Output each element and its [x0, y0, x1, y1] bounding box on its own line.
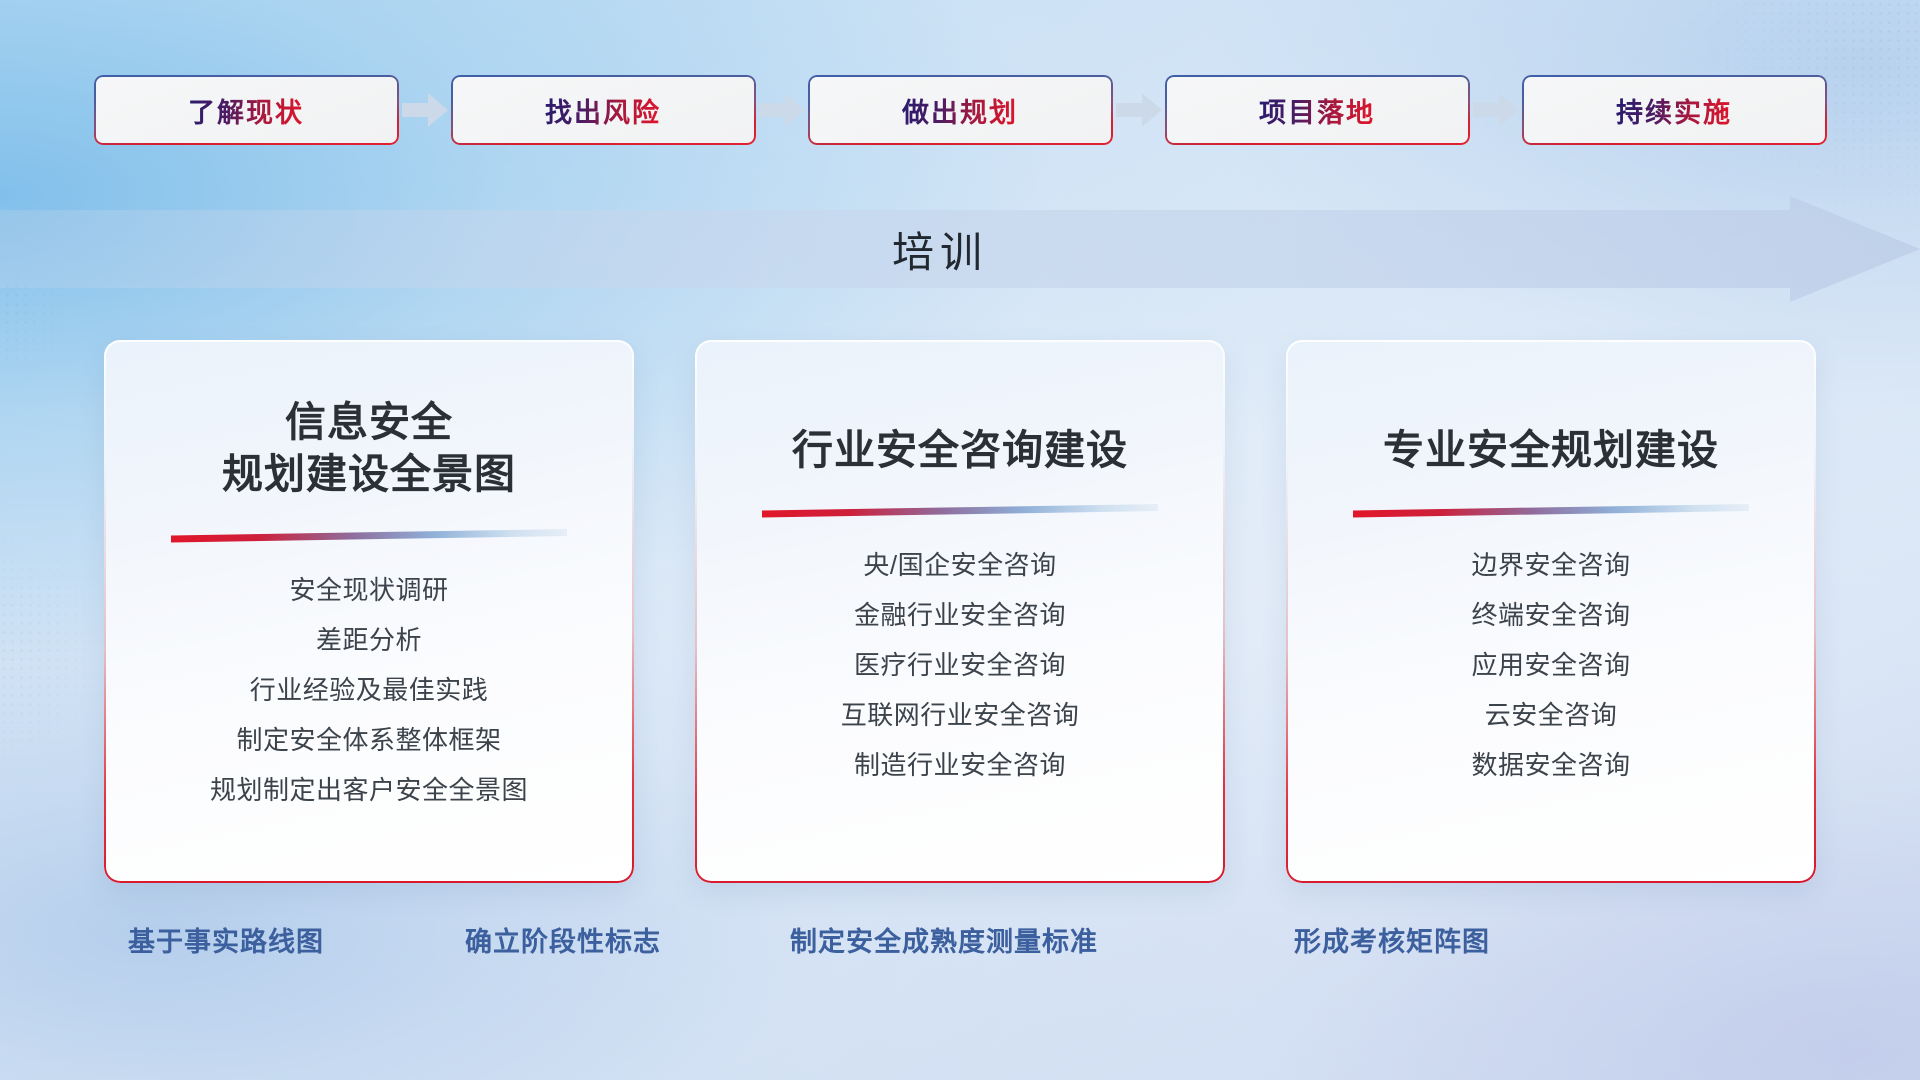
- step-box-2[interactable]: 找出风险: [451, 75, 756, 145]
- step-label-2: 找出风险: [545, 91, 661, 130]
- step-box-1[interactable]: 了解现状: [94, 75, 399, 145]
- list-item: 制造行业安全咨询: [725, 740, 1195, 790]
- card-item-list: 边界安全咨询 终端安全咨询 应用安全咨询 云安全咨询 数据安全咨询: [1316, 540, 1786, 790]
- arrow-right-icon: [1470, 75, 1522, 145]
- slide-canvas: 了解现状 找出风险 做出规划 项目落地: [0, 0, 1920, 1080]
- list-item: 规划制定出客户安全全景图: [134, 765, 604, 815]
- card-information-security-blueprint[interactable]: 信息安全 规划建设全景图: [104, 340, 634, 883]
- list-item: 安全现状调研: [134, 565, 604, 615]
- list-item: 央/国企安全咨询: [725, 540, 1195, 590]
- gradient-divider-icon: [762, 504, 1158, 518]
- list-item: 差距分析: [134, 615, 604, 665]
- gradient-divider-icon: [171, 529, 567, 543]
- step-label-3: 做出规划: [902, 91, 1018, 130]
- list-item: 行业经验及最佳实践: [134, 665, 604, 715]
- card-professional-security-planning[interactable]: 专业安全规划建设: [1286, 340, 1816, 883]
- arrow-right-icon: [1113, 75, 1165, 145]
- list-item: 医疗行业安全咨询: [725, 640, 1195, 690]
- step-label-1: 了解现状: [188, 91, 304, 130]
- list-item: 边界安全咨询: [1316, 540, 1786, 590]
- card-title: 专业安全规划建设: [1383, 424, 1719, 476]
- list-item: 云安全咨询: [1316, 690, 1786, 740]
- arrow-right-icon: [756, 75, 808, 145]
- step-label-5: 持续实施: [1616, 91, 1732, 130]
- card-industry-security-consulting[interactable]: 行业安全咨询建设: [695, 340, 1225, 883]
- card-title-line: 专业安全规划建设: [1383, 424, 1719, 476]
- footer-caption: 制定安全成熟度测量标准: [790, 920, 1098, 959]
- card-item-list: 央/国企安全咨询 金融行业安全咨询 医疗行业安全咨询 互联网行业安全咨询 制造行…: [725, 540, 1195, 790]
- card-item-list: 安全现状调研 差距分析 行业经验及最佳实践 制定安全体系整体框架 规划制定出客户…: [134, 565, 604, 815]
- footer-caption: 形成考核矩阵图: [1294, 920, 1490, 959]
- list-item: 应用安全咨询: [1316, 640, 1786, 690]
- step-box-4[interactable]: 项目落地: [1165, 75, 1470, 145]
- footer-caption: 确立阶段性标志: [465, 920, 661, 959]
- step-box-5[interactable]: 持续实施: [1522, 75, 1827, 145]
- footer-caption: 基于事实路线图: [128, 920, 324, 959]
- arrow-right-icon: [399, 75, 451, 145]
- card-title: 行业安全咨询建设: [792, 424, 1128, 476]
- gradient-divider-icon: [1353, 504, 1749, 518]
- footer-caption-row: 基于事实路线图 确立阶段性标志 制定安全成熟度测量标准 形成考核矩阵图: [0, 920, 1920, 960]
- step-label-4: 项目落地: [1259, 91, 1375, 130]
- list-item: 制定安全体系整体框架: [134, 715, 604, 765]
- process-step-flow: 了解现状 找出风险 做出规划 项目落地: [0, 72, 1920, 148]
- step-box-3[interactable]: 做出规划: [808, 75, 1113, 145]
- list-item: 终端安全咨询: [1316, 590, 1786, 640]
- list-item: 数据安全咨询: [1316, 740, 1786, 790]
- card-title-line: 信息安全: [222, 396, 516, 448]
- card-title-line: 行业安全咨询建设: [792, 424, 1128, 476]
- card-title: 信息安全 规划建设全景图: [222, 396, 516, 501]
- banner-title: 培训: [0, 196, 1880, 302]
- card-title-line: 规划建设全景图: [222, 448, 516, 500]
- list-item: 金融行业安全咨询: [725, 590, 1195, 640]
- list-item: 互联网行业安全咨询: [725, 690, 1195, 740]
- card-row: 信息安全 规划建设全景图: [0, 340, 1920, 883]
